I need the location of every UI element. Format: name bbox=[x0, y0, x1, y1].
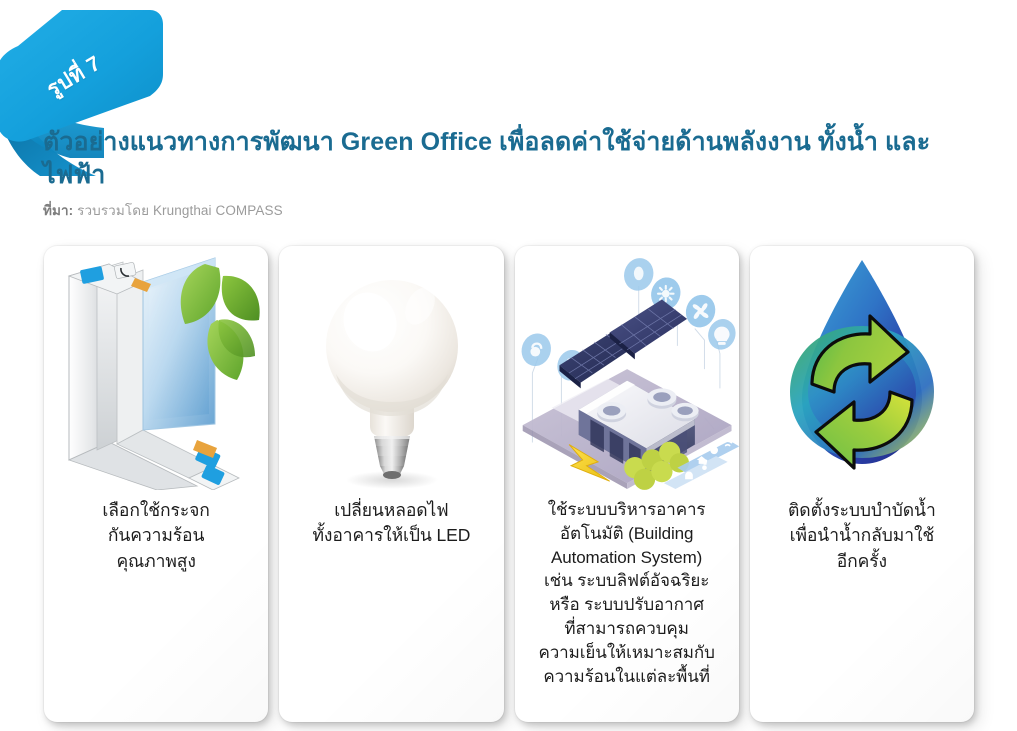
led-lightbulb-icon bbox=[279, 246, 503, 498]
card-led[interactable]: เปลี่ยนหลอดไฟ ทั้งอาคารให้เป็น LED bbox=[279, 246, 503, 722]
card-caption: ใช้ระบบบริหารอาคาร อัตโนมัติ (Building A… bbox=[515, 498, 739, 688]
ribbon-label: รูปที่ 7 bbox=[14, 31, 134, 121]
ribbon-band bbox=[0, 10, 163, 142]
card-caption: เปลี่ยนหลอดไฟ ทั้งอาคารให้เป็น LED bbox=[279, 498, 503, 549]
card-water[interactable]: ติดตั้งระบบบำบัดน้ำ เพื่อนำน้ำกลับมาใช้ … bbox=[750, 246, 974, 722]
source-prefix: ที่มา: bbox=[43, 203, 73, 218]
infographic-page: รูปที่ 7 ตัวอย่างแนวทางการพัฒนา Green Of… bbox=[0, 0, 1017, 731]
card-caption: ติดตั้งระบบบำบัดน้ำ เพื่อนำน้ำกลับมาใช้ … bbox=[750, 498, 974, 574]
source-text: รวบรวมโดย Krungthai COMPASS bbox=[73, 203, 282, 218]
source-line: ที่มา: รวบรวมโดย Krungthai COMPASS bbox=[43, 199, 943, 221]
card-bas[interactable]: ใช้ระบบบริหารอาคาร อัตโนมัติ (Building A… bbox=[515, 246, 739, 722]
card-row: เลือกใช้กระจก กันความร้อน คุณภาพสูง bbox=[44, 246, 974, 722]
smart-building-automation-icon bbox=[515, 246, 739, 498]
insulated-window-leaf-icon bbox=[44, 246, 268, 498]
water-droplet-recycle-icon bbox=[750, 246, 974, 498]
card-glass[interactable]: เลือกใช้กระจก กันความร้อน คุณภาพสูง bbox=[44, 246, 268, 722]
header-block: ตัวอย่างแนวทางการพัฒนา Green Office เพื่… bbox=[43, 126, 943, 221]
card-caption: เลือกใช้กระจก กันความร้อน คุณภาพสูง bbox=[44, 498, 268, 574]
page-title: ตัวอย่างแนวทางการพัฒนา Green Office เพื่… bbox=[43, 126, 943, 192]
